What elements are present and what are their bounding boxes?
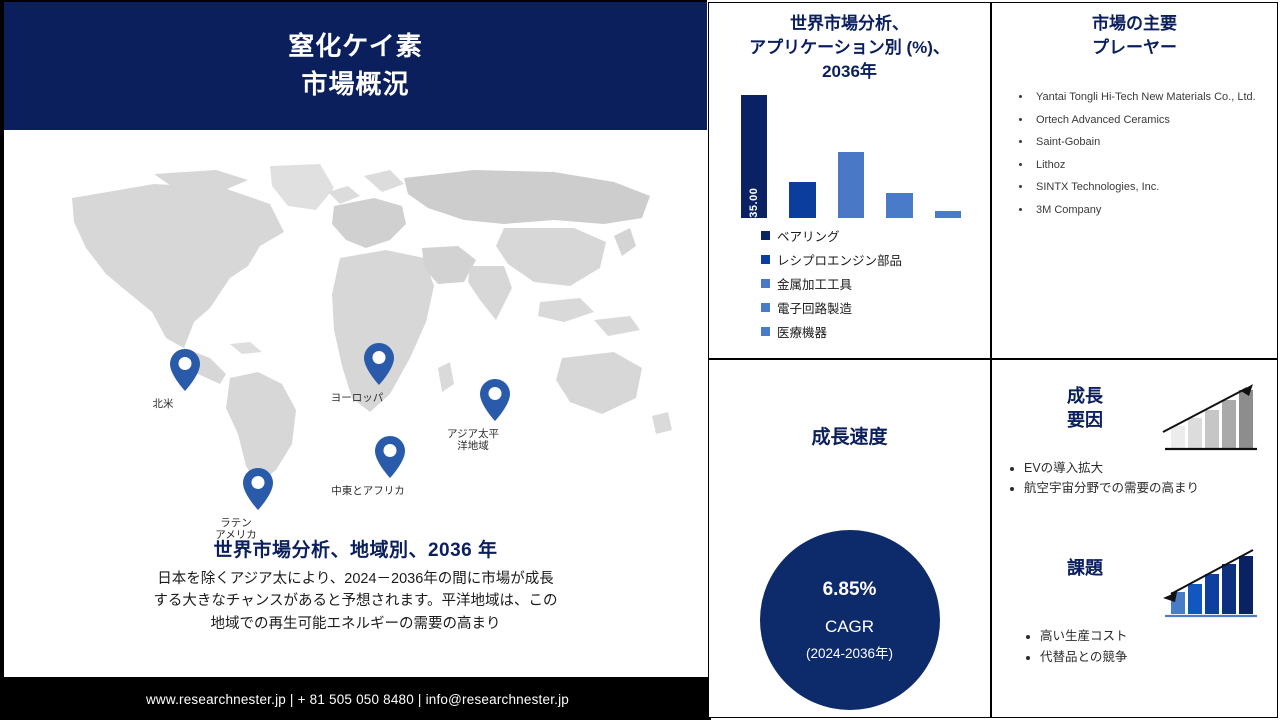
legend-item-1: ベアリング bbox=[761, 226, 990, 245]
key-players-list: Yantai Tongli Hi-Tech New Materials Co.,… bbox=[1018, 86, 1263, 221]
region-description-line3: 地域での再生可能エネルギーの需要の高まり bbox=[64, 613, 647, 635]
growth-drivers-row: 成長 要因 bbox=[992, 368, 1277, 464]
region-analysis-title: 世界市場分析、地域別、2036 年 bbox=[64, 535, 647, 562]
world-map-area: 北米 ヨーロッパ アジア太平 洋地域 中東とアフリカ bbox=[4, 130, 707, 535]
legend-item-2: レシプロエンジン部品 bbox=[761, 250, 990, 269]
challenge-item: 代替品との競争 bbox=[1040, 647, 1267, 668]
key-players-title: 市場の主要 プレーヤー bbox=[992, 3, 1277, 60]
application-title-line3: 2036年 bbox=[709, 60, 990, 84]
cagr-year-range: (2024-2036年) bbox=[806, 642, 893, 662]
key-player-item: Lithoz bbox=[1032, 154, 1263, 177]
application-bar-chart: 135.00 bbox=[709, 90, 990, 218]
map-pin-asia-pacific[interactable]: アジア太平 洋地域 bbox=[472, 378, 518, 453]
growth-drivers-title: 成長 要因 bbox=[1030, 384, 1140, 433]
growth-drivers-list: EVの導入拡大航空宇宙分野での需要の高まり bbox=[1006, 458, 1267, 498]
bar-2 bbox=[789, 182, 815, 219]
key-player-item: Ortech Advanced Ceramics bbox=[1032, 109, 1263, 132]
legend-swatch-icon bbox=[761, 303, 770, 312]
key-players-title-line1: 市場の主要 bbox=[992, 12, 1277, 36]
challenges-row: 課題 bbox=[992, 534, 1277, 630]
map-pin-label-asia-pacific-2: 洋地域 bbox=[423, 440, 523, 453]
map-pin-icon bbox=[162, 348, 208, 397]
application-title-line1: 世界市場分析、 bbox=[709, 12, 990, 36]
cagr-percent-value: 6.85% bbox=[823, 579, 877, 601]
page-title-line2: 市場概況 bbox=[301, 66, 409, 104]
bar-4 bbox=[886, 193, 912, 219]
legend-label: 金属加工工具 bbox=[777, 274, 852, 293]
challenges-chart-down-icon bbox=[1157, 540, 1263, 620]
map-pin-label-mea: 中東とアフリカ bbox=[318, 485, 418, 498]
region-description-line1: 日本を除くアジア太により、2024－2036年の間に市場が成長 bbox=[64, 568, 647, 590]
map-pin-icon bbox=[472, 378, 518, 427]
growth-drivers-title-line2: 要因 bbox=[1030, 408, 1140, 432]
map-pin-north-america[interactable]: 北米 bbox=[162, 348, 208, 411]
region-analysis-block: 世界市場分析、地域別、2036 年 日本を除くアジア太により、2024－2036… bbox=[4, 535, 707, 677]
map-pin-latin-america[interactable]: ラテン アメリカ bbox=[235, 467, 281, 542]
legend-swatch-icon bbox=[761, 279, 770, 288]
region-description-line2: する大きなチャンスがあると予想されます。平洋地域は、この bbox=[64, 590, 647, 612]
key-players-title-line2: プレーヤー bbox=[992, 36, 1277, 60]
map-pin-label-europe: ヨーロッパ bbox=[307, 392, 407, 405]
map-pin-mea[interactable]: 中東とアフリカ bbox=[367, 435, 413, 498]
growth-drivers-title-line1: 成長 bbox=[1030, 384, 1140, 408]
bar-value-label: 135.00 bbox=[748, 188, 760, 225]
growth-and-challenges-panel: 成長 要因 EVの導入拡大航空宇宙分野での需要の高まり 課題 bbox=[991, 359, 1278, 718]
map-pin-icon bbox=[367, 435, 413, 484]
legend-item-4: 電子回路製造 bbox=[761, 298, 990, 317]
legend-swatch-icon bbox=[761, 255, 770, 264]
legend-swatch-icon bbox=[761, 231, 770, 240]
growth-driver-item: 航空宇宙分野での需要の高まり bbox=[1024, 478, 1267, 498]
challenges-title: 課題 bbox=[1030, 556, 1140, 580]
key-players-panel: 市場の主要 プレーヤー Yantai Tongli Hi-Tech New Ma… bbox=[991, 2, 1278, 359]
legend-swatch-icon bbox=[761, 327, 770, 336]
world-map-svg bbox=[34, 162, 684, 492]
key-player-item: 3M Company bbox=[1032, 199, 1263, 222]
legend-label: ベアリング bbox=[777, 226, 840, 245]
left-column: 窒化ケイ素 市場概況 bbox=[0, 0, 707, 720]
challenges-title-text: 課題 bbox=[1030, 556, 1140, 580]
challenges-list: 高い生産コスト代替品との競争 bbox=[1006, 626, 1267, 667]
cagr-circle: 6.85% CAGR (2024-2036年) bbox=[760, 530, 940, 710]
map-pin-label-north-america: 北米 bbox=[113, 398, 213, 411]
map-pin-europe[interactable]: ヨーロッパ bbox=[356, 342, 402, 405]
growth-rate-title: 成長速度 bbox=[709, 422, 990, 449]
footer-contact-text: www.researchnester.jp | + 81 505 050 848… bbox=[146, 692, 569, 707]
application-analysis-panel: 世界市場分析、 アプリケーション別 (%)、 2036年 135.00 ベアリン… bbox=[708, 2, 991, 359]
title-banner: 窒化ケイ素 市場概況 bbox=[4, 2, 707, 130]
key-player-item: Saint-Gobain bbox=[1032, 131, 1263, 154]
page-title-line1: 窒化ケイ素 bbox=[288, 28, 422, 66]
key-player-item: SINTX Technologies, Inc. bbox=[1032, 176, 1263, 199]
footer-contact-bar: www.researchnester.jp | + 81 505 050 848… bbox=[4, 677, 711, 720]
bar-chart-legend: ベアリングレシプロエンジン部品金属加工工具電子回路製造医療機器 bbox=[761, 226, 990, 341]
legend-label: 電子回路製造 bbox=[777, 298, 852, 317]
application-panel-title: 世界市場分析、 アプリケーション別 (%)、 2036年 bbox=[709, 3, 990, 84]
legend-label: 医療機器 bbox=[777, 322, 827, 341]
bar-chart-bars: 135.00 bbox=[741, 90, 961, 218]
application-title-line2: アプリケーション別 (%)、 bbox=[709, 36, 990, 60]
legend-item-3: 金属加工工具 bbox=[761, 274, 990, 293]
infographic-canvas: 窒化ケイ素 市場概況 bbox=[0, 0, 1280, 720]
bar-3 bbox=[838, 152, 864, 219]
legend-item-5: 医療機器 bbox=[761, 322, 990, 341]
map-pin-icon bbox=[235, 467, 281, 516]
map-pin-icon bbox=[356, 342, 402, 391]
key-player-item: Yantai Tongli Hi-Tech New Materials Co.,… bbox=[1032, 86, 1263, 109]
growth-chart-up-icon bbox=[1157, 374, 1263, 454]
bar-5 bbox=[935, 211, 961, 218]
bar-1: 135.00 bbox=[741, 95, 767, 218]
legend-label: レシプロエンジン部品 bbox=[777, 250, 902, 269]
cagr-label: CAGR bbox=[825, 617, 874, 637]
growth-rate-panel: 成長速度 6.85% CAGR (2024-2036年) bbox=[708, 359, 991, 718]
